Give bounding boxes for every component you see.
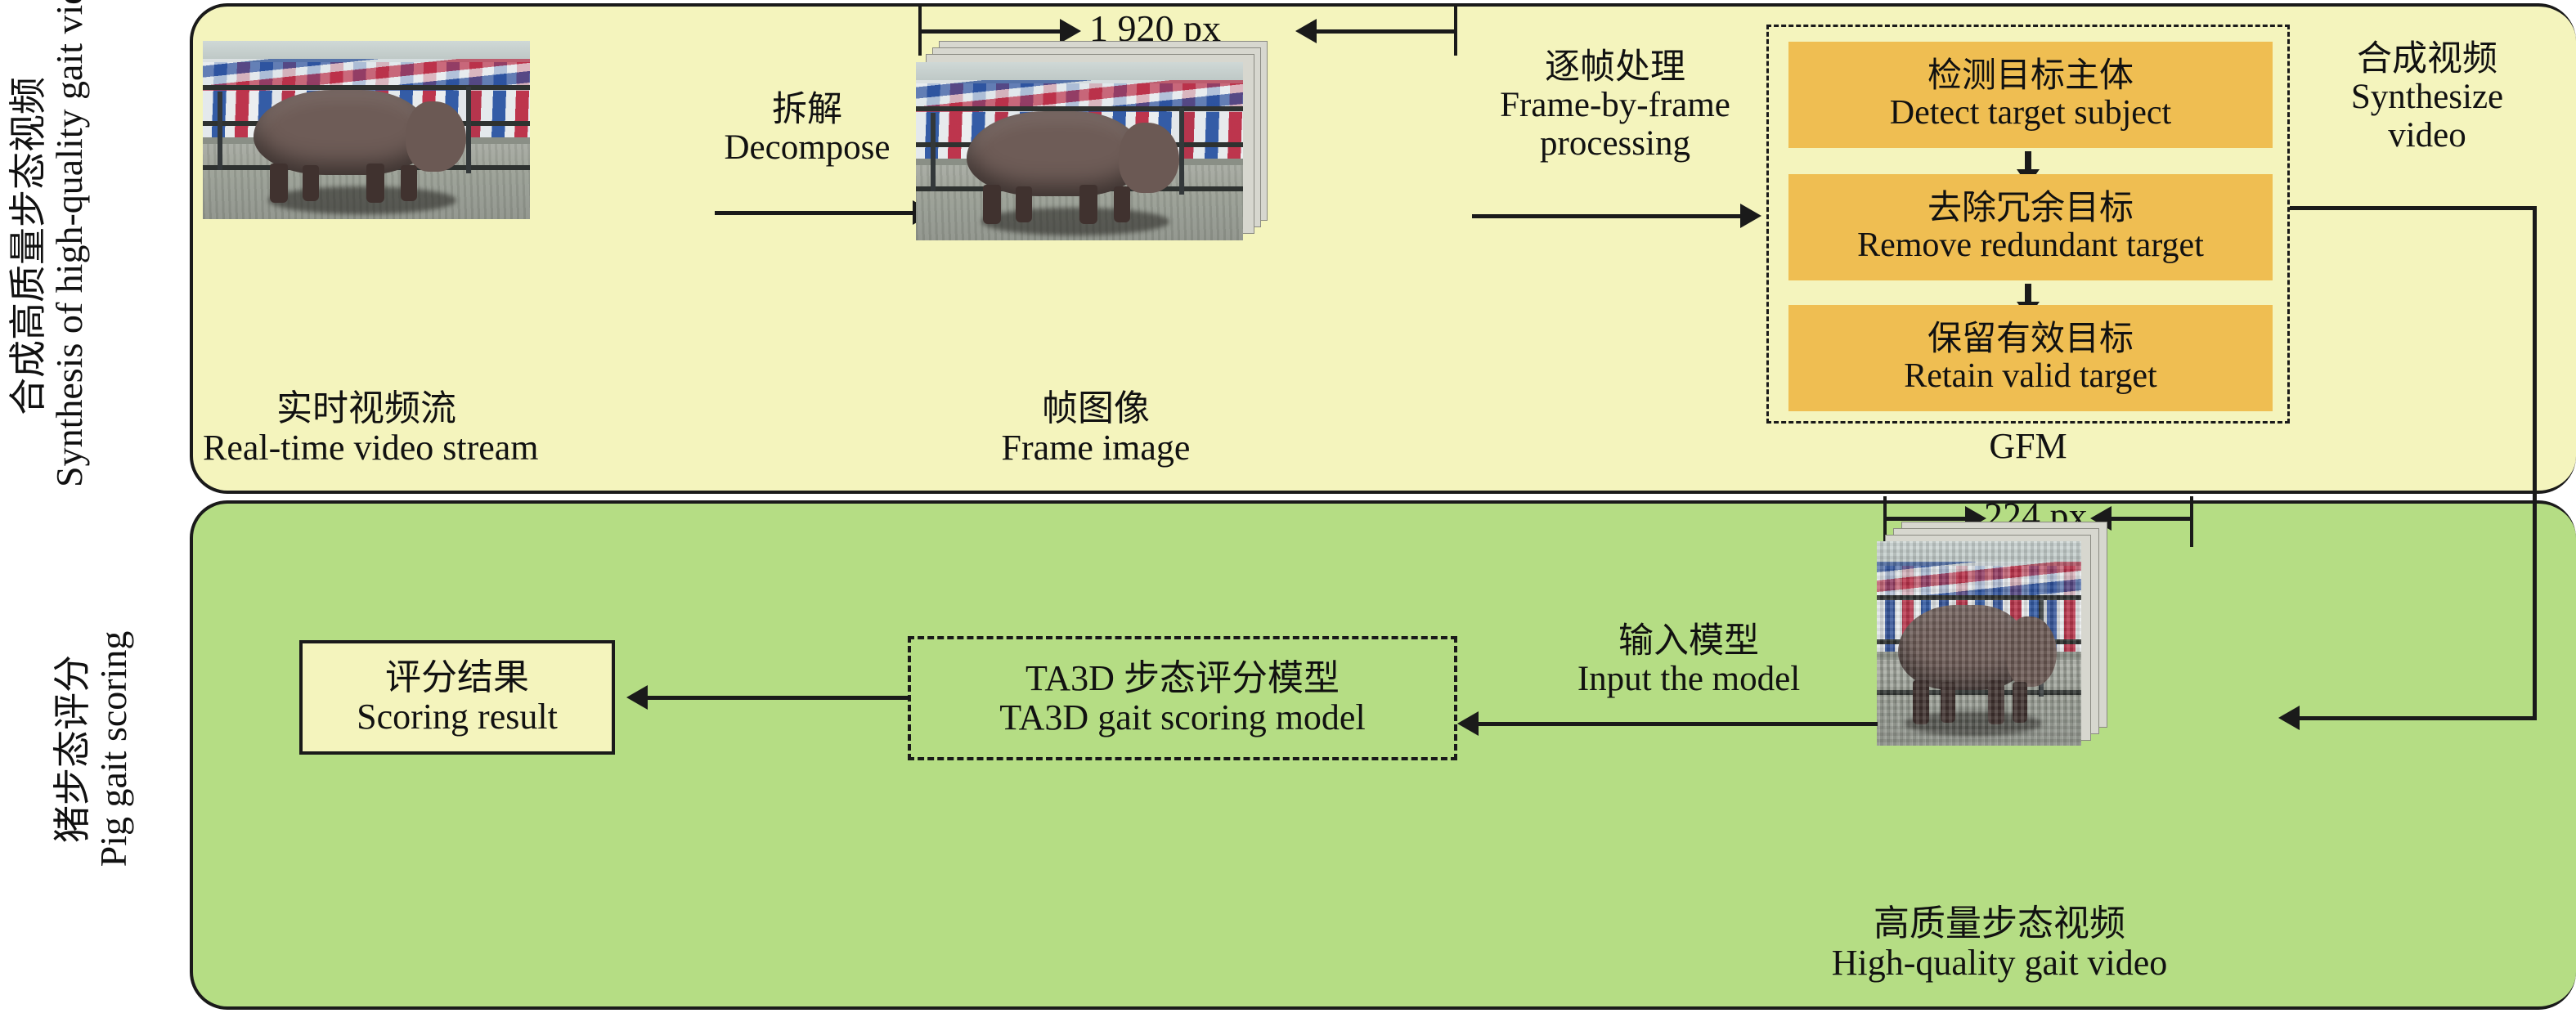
- photo-stack-gait-video: [1877, 522, 2122, 742]
- section-label-synthesis-en: Synthesis of high-quality gait videos: [49, 5, 90, 487]
- arrow-label-decompose: 拆解 Decompose: [705, 92, 909, 168]
- photo-rail-top: [1877, 595, 2081, 600]
- photo-pig-leg-4: [401, 165, 417, 201]
- scoring-result-en: Scoring result: [357, 697, 558, 737]
- gfm-step-remove-redundant[interactable]: 去除冗余目标 Remove redundant target: [1788, 174, 2273, 280]
- photo-pig-leg-4: [1114, 186, 1130, 222]
- photo-pig-leg-1: [1913, 680, 1929, 724]
- photo-pig-leg-2: [303, 165, 319, 201]
- photo-stack-frame-images: [916, 41, 1276, 253]
- photo-post-left: [218, 92, 222, 170]
- arrow-synthesize-head: [2278, 706, 2300, 730]
- photo-frame-image: [916, 62, 1243, 240]
- photo-rail-low: [1877, 690, 2081, 695]
- dimension-224-line-right: [2110, 517, 2192, 521]
- photo-pig-leg-4: [2013, 682, 2027, 723]
- photo-pig-shadow: [981, 208, 1169, 235]
- dimension-line-left: [920, 29, 1063, 34]
- photo-pig-leg-2: [1016, 186, 1032, 222]
- section-label-synthesis: 合成高质量步态视频 Synthesis of high-quality gait…: [8, 5, 89, 487]
- gfm-step-3-en: Retain valid target: [1904, 358, 2156, 395]
- gfm-module-label: GFM: [1766, 425, 2290, 467]
- arrow-label-input-model: 输入模型 Input the model: [1517, 623, 1860, 699]
- arrow-label-input-cn: 输入模型: [1517, 623, 1860, 661]
- photo-high-quality-gait-video: [1877, 541, 2081, 746]
- arrow-label-input-en: Input the model: [1517, 661, 1860, 698]
- dimension-224-tick-right: [2190, 496, 2193, 547]
- gfm-arrow-1-icon: [2025, 151, 2031, 169]
- gfm-step-2-cn: 去除冗余目标: [1928, 190, 2134, 227]
- gfm-step-1-cn: 检测目标主体: [1928, 58, 2134, 95]
- gfm-step-retain-valid[interactable]: 保留有效目标 Retain valid target: [1788, 305, 2273, 411]
- caption-gait-cn: 高质量步态视频: [1738, 904, 2261, 944]
- photo-post-right: [466, 87, 471, 173]
- photo-pig-head: [2006, 616, 2057, 687]
- arrow-label-synthesize: 合成视频 Synthesize video: [2304, 41, 2550, 155]
- photo-pig-body: [254, 90, 430, 175]
- arrow-label-synth-en-2: video: [2304, 117, 2550, 155]
- caption-frame-image: 帧图像 Frame image: [916, 389, 1276, 468]
- gfm-step-2-en: Remove redundant target: [1857, 227, 2204, 264]
- photo-post-left: [931, 113, 936, 191]
- arrow-label-fbf-en-1: Frame-by-frame: [1472, 87, 1758, 124]
- photo-pig-body: [967, 111, 1143, 196]
- gfm-module-box: 检测目标主体 Detect target subject 去除冗余目标 Remo…: [1766, 25, 2290, 424]
- ta3d-model-box[interactable]: TA3D 步态评分模型 TA3D gait scoring model: [908, 636, 1457, 760]
- scoring-result-box[interactable]: 评分结果 Scoring result: [299, 640, 615, 755]
- caption-gait-en: High-quality gait video: [1738, 944, 2261, 983]
- photo-pig-head: [406, 101, 466, 172]
- dimension-line-right: [1315, 29, 1456, 34]
- arrow-input-model-head: [1457, 711, 1479, 736]
- caption-frame-cn: 帧图像: [916, 389, 1276, 428]
- arrow-result-head: [626, 685, 648, 710]
- dimension-arrow-left-head: [1295, 19, 1317, 43]
- arrow-input-model-line: [1477, 722, 1878, 726]
- caption-real-time-video-stream: 实时视频流 Real-time video stream: [203, 389, 530, 468]
- photo-pig-leg-3: [1079, 185, 1097, 224]
- gfm-step-detect-target[interactable]: 检测目标主体 Detect target subject: [1788, 42, 2273, 148]
- arrow-fbf-head: [1740, 204, 1761, 228]
- arrow-label-fbf-cn: 逐帧处理: [1472, 49, 1758, 87]
- arrow-label-decompose-en: Decompose: [705, 129, 909, 167]
- diagram-canvas: 合成高质量步态视频 Synthesis of high-quality gait…: [0, 0, 2576, 1013]
- photo-rail-top: [203, 85, 530, 90]
- section-label-scoring-cn: 猪步态评分: [52, 504, 93, 994]
- caption-source-cn: 实时视频流: [203, 389, 530, 428]
- photo-striped-tarp-upper: [1877, 562, 2081, 598]
- photo-post-right: [1179, 108, 1184, 195]
- caption-source-en: Real-time video stream: [203, 428, 530, 468]
- section-label-scoring-en: Pig gait scoring: [93, 504, 134, 994]
- photo-pig-leg-3: [366, 164, 384, 203]
- arrow-label-synth-en-1: Synthesize: [2304, 78, 2550, 116]
- photo-pig-leg-2: [1941, 682, 1955, 723]
- arrow-label-frame-by-frame: 逐帧处理 Frame-by-frame processing: [1472, 49, 1758, 163]
- scoring-result-cn: 评分结果: [385, 658, 529, 697]
- photo-rail-top: [916, 106, 1243, 111]
- arrow-result-line: [646, 696, 908, 700]
- gfm-step-1-en: Detect target subject: [1890, 95, 2171, 132]
- gfm-arrow-2-icon: [2025, 284, 2031, 302]
- ta3d-model-name-cn: TA3D 步态评分模型: [1025, 659, 1340, 698]
- arrow-synthesize-top-line: [2290, 206, 2537, 210]
- photo-pig-leg-1: [983, 185, 1001, 224]
- section-label-scoring: 猪步态评分 Pig gait scoring: [52, 504, 133, 994]
- caption-high-quality-gait-video: 高质量步态视频 High-quality gait video: [1738, 904, 2261, 984]
- ta3d-model-name-en: TA3D gait scoring model: [999, 698, 1365, 737]
- photo-pig-leg-3: [1988, 680, 2004, 724]
- arrow-label-synth-cn: 合成视频: [2304, 41, 2550, 78]
- dimension-224-line-left: [1885, 517, 1968, 521]
- caption-frame-en: Frame image: [916, 428, 1276, 468]
- arrow-label-fbf-en-2: processing: [1472, 125, 1758, 163]
- gfm-step-3-cn: 保留有效目标: [1928, 321, 2134, 358]
- arrow-label-decompose-cn: 拆解: [705, 92, 909, 129]
- section-label-synthesis-cn: 合成高质量步态视频: [8, 5, 49, 487]
- arrow-synthesize-bottom-line: [2298, 716, 2537, 720]
- dimension-arrow-right-head: [1060, 19, 1081, 43]
- photo-pig-shadow: [268, 186, 456, 214]
- photo-pig-head: [1119, 123, 1179, 193]
- arrow-synthesize-down-line: [2533, 206, 2537, 718]
- arrow-decompose-line: [715, 211, 916, 215]
- arrow-fbf-line: [1472, 214, 1744, 218]
- photo-real-time-video-stream: [203, 41, 530, 219]
- photo-pig-leg-1: [270, 164, 288, 203]
